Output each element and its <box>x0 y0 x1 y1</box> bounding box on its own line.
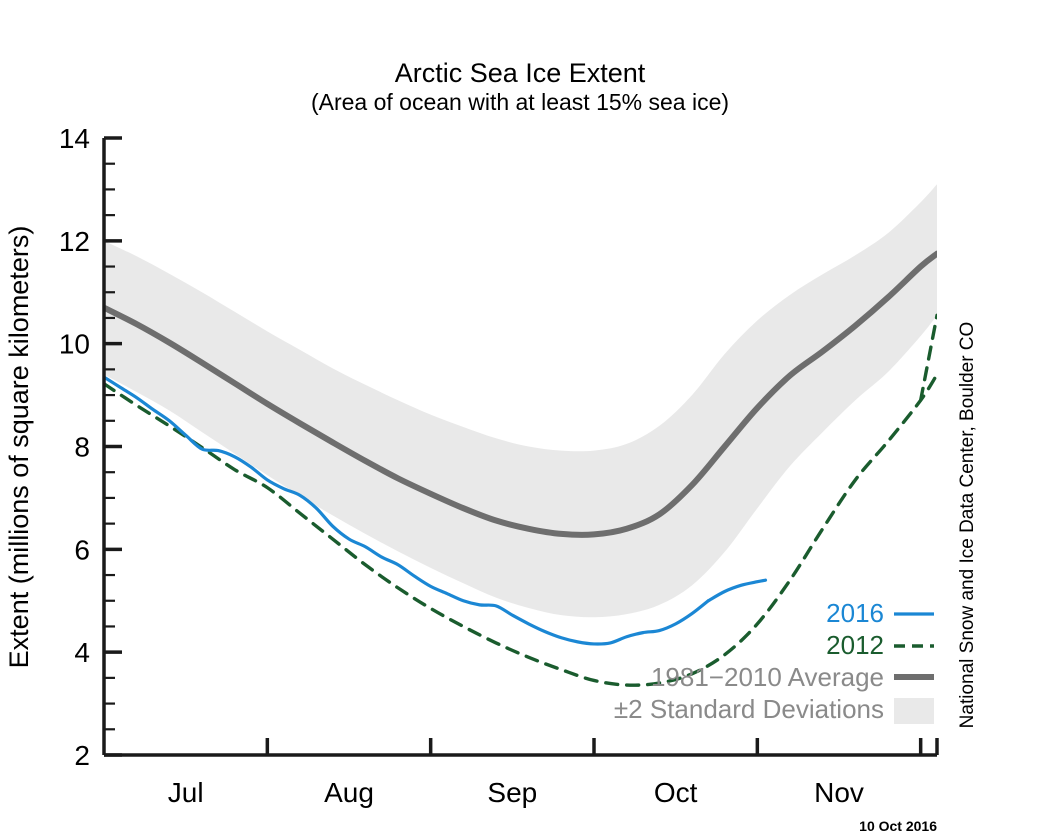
y-tick-label: 14 <box>59 123 90 154</box>
legend-swatch-standard-deviations <box>894 698 934 724</box>
x-tick-label-oct: Oct <box>654 777 698 808</box>
x-tick-label-sep: Sep <box>487 777 537 808</box>
x-tick-label-jul: Jul <box>168 777 204 808</box>
legend-label-2016: 2016 <box>826 598 884 628</box>
y-tick-label: 4 <box>74 637 90 668</box>
chart-svg: Arctic Sea Ice Extent (Area of ocean wit… <box>0 0 1050 840</box>
y-tick-label: 10 <box>59 329 90 360</box>
arctic-sea-ice-chart: Arctic Sea Ice Extent (Area of ocean wit… <box>0 0 1050 840</box>
legend-label-standard-deviations: ±2 Standard Deviations <box>614 694 884 724</box>
x-tick-label-aug: Aug <box>324 777 374 808</box>
date-stamp: 10 Oct 2016 <box>859 818 937 834</box>
chart-subtitle: (Area of ocean with at least 15% sea ice… <box>311 89 729 115</box>
y-tick-label: 8 <box>74 432 90 463</box>
y-tick-label: 6 <box>74 534 90 565</box>
legend-label-average: 1981−2010 Average <box>651 662 884 692</box>
chart-title: Arctic Sea Ice Extent <box>395 58 646 88</box>
y-axis-label: Extent (millions of square kilometers) <box>4 226 34 669</box>
y-tick-label: 12 <box>59 226 90 257</box>
y-tick-label: 2 <box>74 740 90 771</box>
data-center-credit: National Snow and Ice Data Center, Bould… <box>957 322 978 729</box>
x-tick-label-nov: Nov <box>814 777 864 808</box>
legend-label-2012: 2012 <box>826 630 884 660</box>
